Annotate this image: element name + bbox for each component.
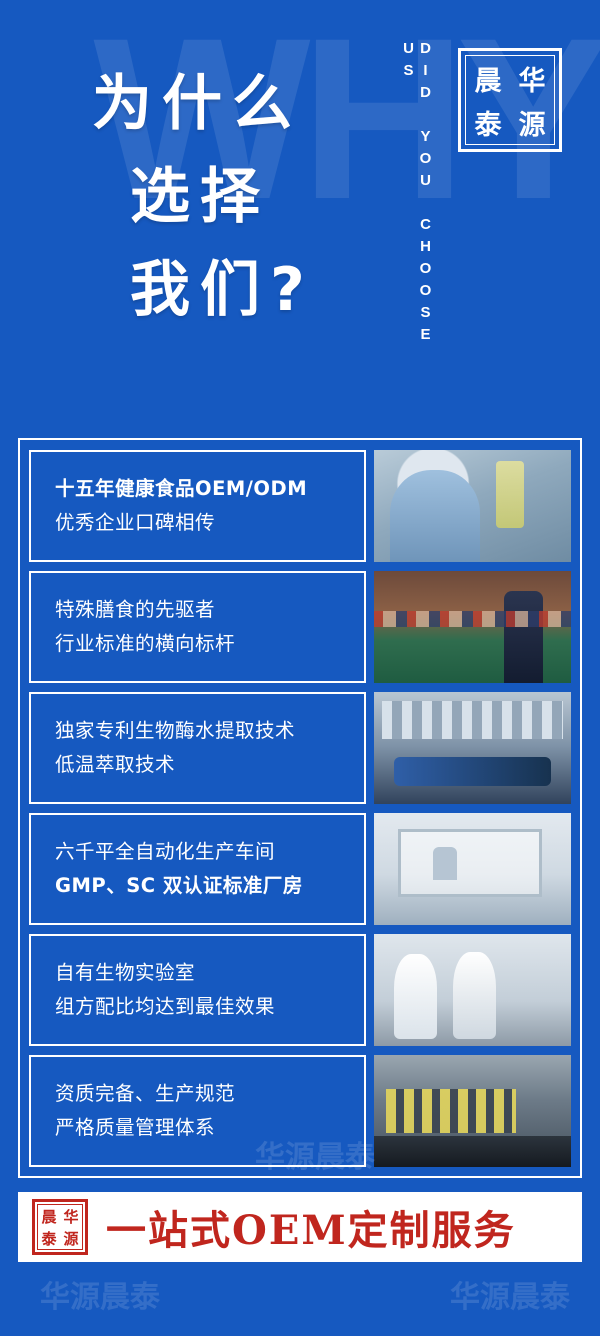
corner-watermark-right: 华源晨泰 xyxy=(450,1272,570,1316)
reason-text-3: 独家专利生物酶水提取技术 低温萃取技术 xyxy=(29,692,366,804)
list-item: 资质完备、生产规范 严格质量管理体系 xyxy=(29,1055,571,1167)
reason-6-line-2: 严格质量管理体系 xyxy=(55,1111,364,1145)
footer-logo-char-3: 源 xyxy=(63,1228,78,1249)
blister-packaging-photo xyxy=(374,1055,571,1167)
logo-char-2: 晨 xyxy=(475,59,502,98)
biology-laboratory-photo xyxy=(374,934,571,1046)
reason-5-line-1: 自有生物实验室 xyxy=(55,956,364,990)
headline-line-1: 为什么 xyxy=(92,58,315,151)
reason-4-line-2: GMP、SC 双认证标准厂房 xyxy=(55,869,364,903)
reason-2-line-2: 行业标准的横向标杆 xyxy=(55,627,364,661)
reason-1-line-1: 十五年健康食品OEM/ODM xyxy=(55,472,364,506)
lab-technician-photo xyxy=(374,450,571,562)
reason-photo-6 xyxy=(374,1055,571,1167)
reason-photo-1 xyxy=(374,450,571,562)
reason-text-2: 特殊膳食的先驱者 行业标准的横向标杆 xyxy=(29,571,366,683)
header: 为什么 选择 我们? DID YOU CHOOSE US 华 晨 源 泰 xyxy=(0,0,600,425)
reasons-panel: 十五年健康食品OEM/ODM 优秀企业口碑相传 特殊膳食的先驱者 行业标准的横向… xyxy=(18,438,582,1178)
list-item: 十五年健康食品OEM/ODM 优秀企业口碑相传 xyxy=(29,450,571,562)
reason-text-6: 资质完备、生产规范 严格质量管理体系 xyxy=(29,1055,366,1167)
footer-banner: 华 晨 源 泰 一站式OEM定制服务 xyxy=(18,1192,582,1262)
reason-text-4: 六千平全自动化生产车间 GMP、SC 双认证标准厂房 xyxy=(29,813,366,925)
brand-logo-stamp: 华 晨 源 泰 xyxy=(458,48,562,152)
cleanroom-workshop-photo xyxy=(374,813,571,925)
reason-photo-4 xyxy=(374,813,571,925)
reason-3-line-2: 低温萃取技术 xyxy=(55,748,364,782)
footer-logo-char-1: 华 xyxy=(63,1206,78,1227)
footer-stamp-characters: 华 晨 源 泰 xyxy=(37,1204,83,1250)
vertical-english-subtitle: DID YOU CHOOSE US xyxy=(400,40,434,390)
headline-line-2: 选择 xyxy=(130,151,315,244)
list-item: 六千平全自动化生产车间 GMP、SC 双认证标准厂房 xyxy=(29,813,571,925)
reason-4-line-1: 六千平全自动化生产车间 xyxy=(55,835,364,869)
brand-logo-inner-border: 华 晨 源 泰 xyxy=(465,55,555,145)
logo-char-3: 源 xyxy=(519,103,546,142)
footer-logo-char-2: 晨 xyxy=(41,1206,56,1227)
reason-1-line-2: 优秀企业口碑相传 xyxy=(55,506,364,540)
reason-photo-2 xyxy=(374,571,571,683)
reason-2-line-1: 特殊膳食的先驱者 xyxy=(55,593,364,627)
list-item: 独家专利生物酶水提取技术 低温萃取技术 xyxy=(29,692,571,804)
reason-text-5: 自有生物实验室 组方配比均达到最佳效果 xyxy=(29,934,366,1046)
brand-logo-characters: 华 晨 源 泰 xyxy=(466,56,554,144)
footer-stamp-logo: 华 晨 源 泰 xyxy=(32,1199,88,1255)
reason-5-line-2: 组方配比均达到最佳效果 xyxy=(55,990,364,1024)
list-item: 自有生物实验室 组方配比均达到最佳效果 xyxy=(29,934,571,1046)
filling-line-photo xyxy=(374,692,571,804)
page-title: 为什么 选择 我们? xyxy=(92,58,315,337)
footer-logo-char-4: 泰 xyxy=(41,1228,56,1249)
reason-3-line-1: 独家专利生物酶水提取技术 xyxy=(55,714,364,748)
reason-photo-5 xyxy=(374,934,571,1046)
logo-char-1: 华 xyxy=(519,59,546,98)
reason-text-1: 十五年健康食品OEM/ODM 优秀企业口碑相传 xyxy=(29,450,366,562)
reason-6-line-1: 资质完备、生产规范 xyxy=(55,1077,364,1111)
list-item: 特殊膳食的先驱者 行业标准的横向标杆 xyxy=(29,571,571,683)
corner-watermark-left: 华源晨泰 xyxy=(40,1272,160,1316)
headline-line-3: 我们? xyxy=(130,244,315,337)
conference-audience-photo xyxy=(374,571,571,683)
logo-char-4: 泰 xyxy=(475,103,502,142)
footer-slogan: 一站式OEM定制服务 xyxy=(106,1198,516,1256)
reason-photo-3 xyxy=(374,692,571,804)
